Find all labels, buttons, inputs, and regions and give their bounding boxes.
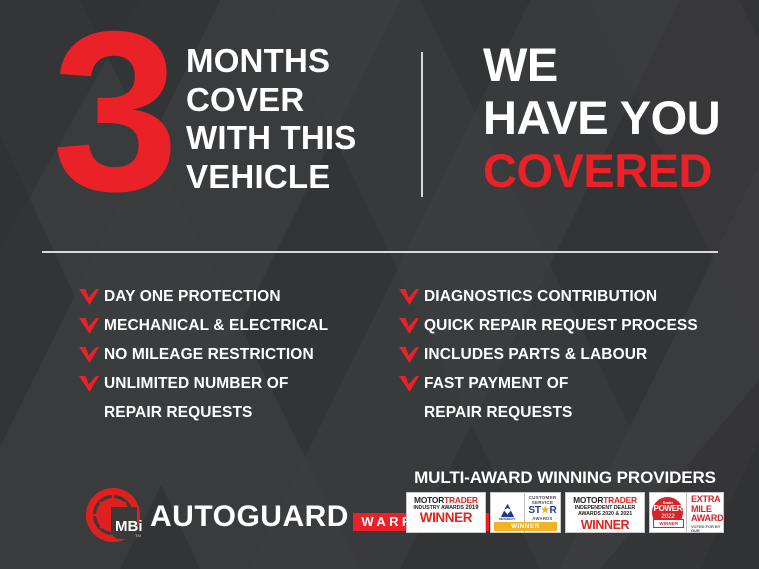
headline-left-line-3: WITH THIS [186,119,356,158]
award-badge-customer-service-star: MOTABILITY CUSTOMER SERVICE ST★R AWARDS … [490,492,561,533]
headline-right-line-2: HAVE YOU [483,91,720,144]
dealer-power-seal: Dealer POWER 2022 WINNER [650,493,687,532]
award-sub-1: VOTED FOR BY OUR [691,525,724,533]
award-brand-secondary: TRADER [444,495,478,505]
award-result: WINNER [569,518,641,532]
award-line-3-post: R [550,505,557,516]
feature-label: UNLIMITED NUMBER OF [104,373,288,394]
award-year: AWARDS 2020 & 2021 [569,511,641,517]
seal-line-2: POWER [652,505,683,513]
award-brand: MOTORTRADER [569,496,641,505]
headline-right-line-3: COVERED [483,144,720,197]
svg-text:TM: TM [135,533,141,538]
feature-item: INCLUDES PARTS & LABOUR [398,344,698,373]
award-result: WINNER [410,511,482,525]
feature-label: MECHANICAL & ELECTRICAL [104,315,328,336]
feature-label: DIAGNOSTICS CONTRIBUTION [424,286,657,307]
promo-banner: 3 MONTHS COVER WITH THIS VEHICLE WE HAVE… [0,0,759,569]
feature-label: REPAIR REQUESTS [424,402,573,423]
feature-label: QUICK REPAIR REQUEST PROCESS [424,315,698,336]
headline-right-text: WE HAVE YOU COVERED [483,38,720,197]
award-line-3: ST★R [525,505,560,516]
award-result: WINNER [511,523,540,530]
headline-left-text: MONTHS COVER WITH THIS VEHICLE [186,42,356,196]
award-brand-primary: MOTOR [414,495,444,505]
feature-label: INCLUDES PARTS & LABOUR [424,344,647,365]
awards-badge-row: MOTORTRADER INDUSTRY AWARDS 2019 WINNER … [406,492,724,533]
motability-mark-icon [499,503,516,518]
award-line-3-pre: ST [528,505,540,516]
feature-label: FAST PAYMENT OF [424,373,568,394]
award-winner-ribbon: WINNER [494,522,557,531]
mbi-badge-icon: MBi TM [84,487,144,547]
feature-item-continuation: REPAIR REQUESTS [78,402,328,431]
check-icon [78,287,104,307]
features-right-column: DIAGNOSTICS CONTRIBUTION QUICK REPAIR RE… [398,286,698,431]
award-brand-secondary: TRADER [603,495,637,505]
headline-vertical-divider [421,52,423,197]
headline-left-line-4: VEHICLE [186,158,356,197]
awards-title: MULTI-AWARD WINNING PROVIDERS [406,468,724,488]
award-brand-primary: MOTOR [573,495,603,505]
feature-item-continuation: REPAIR REQUESTS [398,402,698,431]
award-line-4: AWARDS [525,516,560,521]
check-icon [398,316,424,336]
headline-right-line-1: WE [483,38,720,91]
feature-item: MECHANICAL & ELECTRICAL [78,315,328,344]
award-result: WINNER [659,521,678,526]
feature-label: DAY ONE PROTECTION [104,286,281,307]
award-badge-dealer-power-extra-mile: Dealer POWER 2022 WINNER EXTRA MILE AWAR… [649,492,724,533]
cover-months-number: 3 [52,0,173,226]
feature-item: QUICK REPAIR REQUEST PROCESS [398,315,698,344]
award-badge-motor-trader-independent-dealer: MOTORTRADER INDEPENDENT DEALER AWARDS 20… [565,492,645,533]
award-badge-motor-trader-2019: MOTORTRADER INDUSTRY AWARDS 2019 WINNER [406,492,486,533]
headline-left-line-1: MONTHS [186,42,356,81]
star-icon: ★ [541,505,550,516]
check-icon [78,345,104,365]
extra-mile-award-text: EXTRA MILE AWARD VOTED FOR BY OUR DEALER… [687,493,724,532]
feature-label: REPAIR REQUESTS [104,402,253,423]
headline-section: 3 MONTHS COVER WITH THIS VEHICLE WE HAVE… [0,0,759,250]
feature-item: DIAGNOSTICS CONTRIBUTION [398,286,698,315]
feature-label: NO MILEAGE RESTRICTION [104,344,314,365]
features-left-column: DAY ONE PROTECTION MECHANICAL & ELECTRIC… [78,286,328,431]
check-icon [398,374,424,394]
autoguard-name: AUTOGUARD [150,500,349,533]
check-icon [78,374,104,394]
check-icon [398,345,424,365]
feature-item: NO MILEAGE RESTRICTION [78,344,328,373]
headline-left-line-2: COVER [186,81,356,120]
feature-item: DAY ONE PROTECTION [78,286,328,315]
award-brand: MOTORTRADER [410,496,482,505]
seal-winner-banner: WINNER [653,519,684,528]
awards-section: MULTI-AWARD WINNING PROVIDERS MOTORTRADE… [406,468,724,533]
section-divider [42,251,718,253]
check-icon [398,287,424,307]
feature-item: UNLIMITED NUMBER OF [78,373,328,402]
check-icon [78,316,104,336]
feature-item: FAST PAYMENT OF [398,373,698,402]
award-line-3: AWARD [691,514,724,524]
